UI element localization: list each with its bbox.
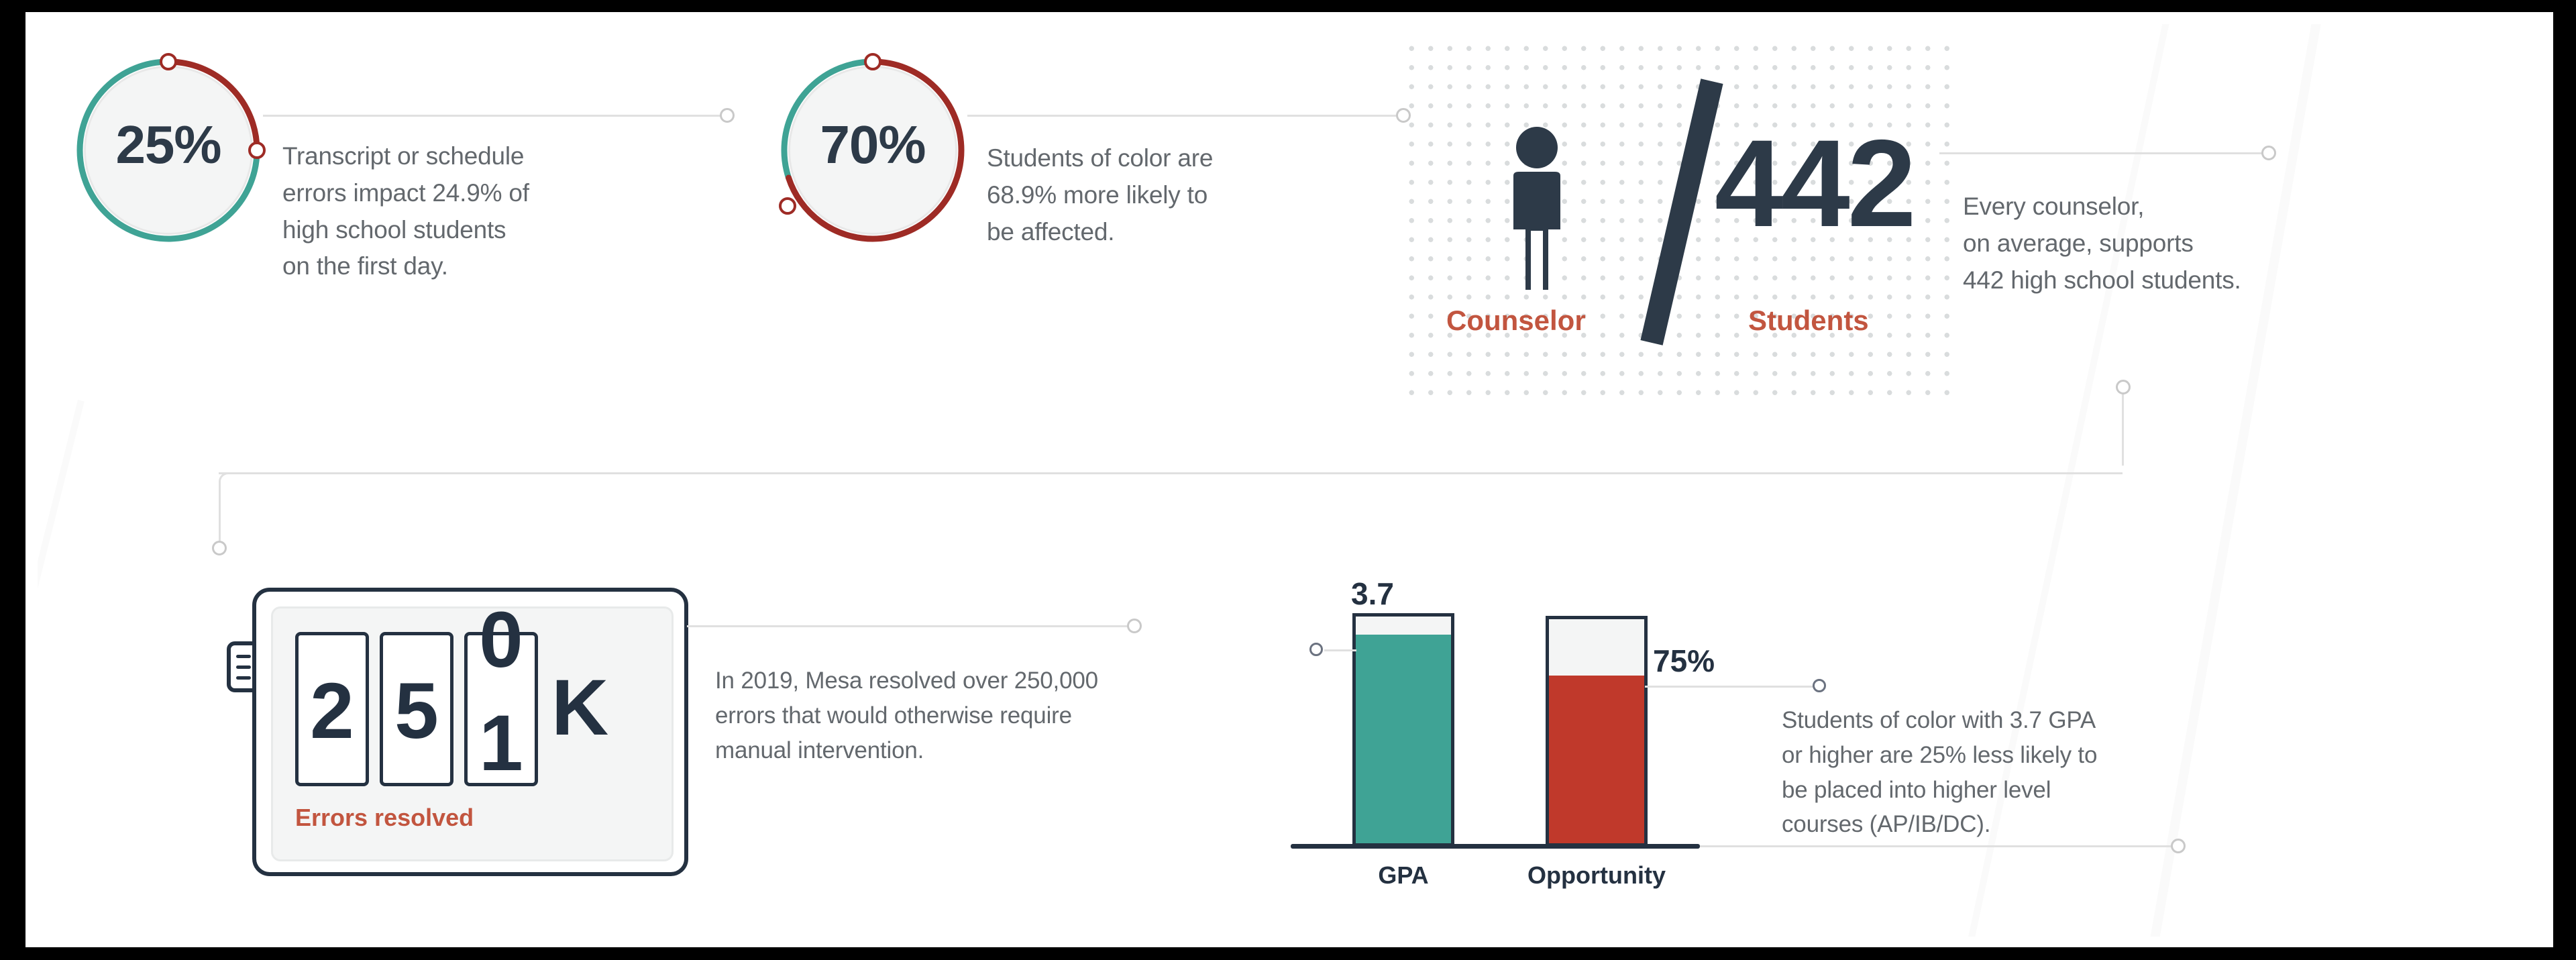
gpa-opportunity-bar-chart: 3.7 GPA 75% Opportunity (1265, 581, 1869, 903)
bar-gpa-category-label: GPA (1344, 861, 1462, 890)
outer-frame: 25% Transcript or schedule errors impact… (0, 0, 2576, 960)
infographic-canvas: 25% Transcript or schedule errors impact… (38, 24, 2546, 937)
connector-line-bar-gpa (1324, 649, 1356, 651)
connector-corner-bridge-left (219, 472, 236, 490)
stat-counselor-student-ratio: 442 Counselor Students (1399, 36, 1949, 405)
counter-suffix: K (551, 668, 608, 747)
bar-opportunity-value-label: 75% (1653, 643, 1715, 679)
stat-description-transcript: Transcript or schedule errors impact 24.… (282, 138, 571, 285)
stat-description-odometer: In 2019, Mesa resolved over 250,000 erro… (715, 663, 1118, 767)
bar-gpa (1352, 613, 1454, 847)
connector-endpoint-bridge-bottom (212, 541, 227, 555)
donut-value-70: 70% (788, 114, 957, 176)
connector-line-bridge-vertical-left (219, 482, 221, 545)
counter-crank-handle-icon (227, 641, 256, 692)
person-icon (1493, 123, 1580, 291)
donut-arc-start-marker (160, 53, 177, 70)
counter-caption: Errors resolved (295, 804, 474, 832)
stat-line: errors impact 24.9% of (282, 175, 571, 212)
donut-arc-end-marker (779, 197, 796, 215)
stat-line: 68.9% more likely to (987, 177, 1275, 214)
counter-digit-slot: 2 (295, 632, 369, 786)
ratio-students-value: 442 (1715, 122, 1914, 246)
connector-endpoint-bar-opportunity (1813, 679, 1826, 692)
stat-line: In 2019, Mesa resolved over 250,000 (715, 663, 1118, 698)
counter-digit-slot: 5 (380, 632, 453, 786)
stat-line: be placed into higher level (1782, 773, 2157, 808)
counter-digit-slot-rolling: 0 1 (464, 632, 538, 786)
connector-line-bridge-vertical-right (2122, 394, 2124, 466)
stat-description-ratio: Every counselor, on average, supports 44… (1963, 189, 2312, 299)
connector-line-donut-70 (967, 115, 1403, 117)
connector-line-baseline-extension (1700, 845, 2184, 847)
connector-endpoint-bridge-top (2116, 380, 2131, 394)
bar-gpa-fill (1356, 635, 1451, 843)
stat-line: Transcript or schedule (282, 138, 571, 175)
donut-arc-start-marker (864, 53, 881, 70)
bar-chart-baseline (1291, 844, 1700, 849)
bar-gpa-value-label: 3.7 (1351, 576, 1394, 612)
connector-endpoint-ratio (2261, 146, 2276, 160)
stat-line: Students of color are (987, 140, 1275, 177)
ratio-counselor-label: Counselor (1446, 305, 1586, 337)
stat-line: manual intervention. (715, 733, 1118, 768)
stat-line: courses (AP/IB/DC). (1782, 807, 2157, 842)
errors-resolved-counter-card: 2 5 0 1 K Errors resolved (252, 588, 688, 876)
connector-line-odometer (687, 625, 1140, 627)
counter-digit: 5 (383, 672, 450, 751)
watermark-stroke (2144, 24, 2328, 937)
connector-line-ratio (1939, 152, 2275, 154)
counter-digit: 2 (299, 672, 366, 751)
stat-line: on the first day. (282, 248, 571, 285)
donut-arc-end-marker (248, 142, 266, 159)
connector-endpoint-donut-25 (720, 108, 735, 123)
stat-donut-students-of-color: 70% Students of color are 68.9% more lik… (769, 36, 1346, 318)
connector-endpoint-odometer (1127, 619, 1142, 633)
stat-line: on average, supports (1963, 225, 2312, 262)
stat-description-bar-section: Students of color with 3.7 GPA or higher… (1782, 703, 2157, 842)
stat-line: Students of color with 3.7 GPA (1782, 703, 2157, 738)
stat-line: or higher are 25% less likely to (1782, 738, 2157, 773)
connector-line-bar-opportunity (1645, 686, 1819, 688)
ratio-students-label: Students (1748, 305, 1869, 337)
stat-line: 442 high school students. (1963, 262, 2312, 299)
bar-opportunity-fill (1549, 676, 1644, 844)
counter-digit-rolling-out: 0 (468, 600, 535, 680)
stat-line: be affected. (987, 214, 1275, 251)
stat-line: Every counselor, (1963, 189, 2312, 225)
stat-description-students-of-color: Students of color are 68.9% more likely … (987, 140, 1275, 250)
watermark-stroke (38, 400, 85, 937)
donut-value-25: 25% (84, 114, 253, 176)
bar-opportunity (1546, 616, 1648, 847)
connector-endpoint-bar-gpa (1309, 643, 1323, 656)
stat-line: high school students (282, 212, 571, 249)
counter-digit-rolling-in: 1 (468, 704, 535, 783)
bar-opportunity-category-label: Opportunity (1521, 861, 1672, 890)
connector-endpoint-baseline (2171, 839, 2186, 853)
connector-line-donut-25 (263, 115, 727, 117)
stat-line: errors that would otherwise require (715, 698, 1118, 733)
stat-donut-transcript: 25% Transcript or schedule errors impact… (64, 36, 641, 318)
connector-line-bridge-horizontal (219, 472, 2114, 474)
